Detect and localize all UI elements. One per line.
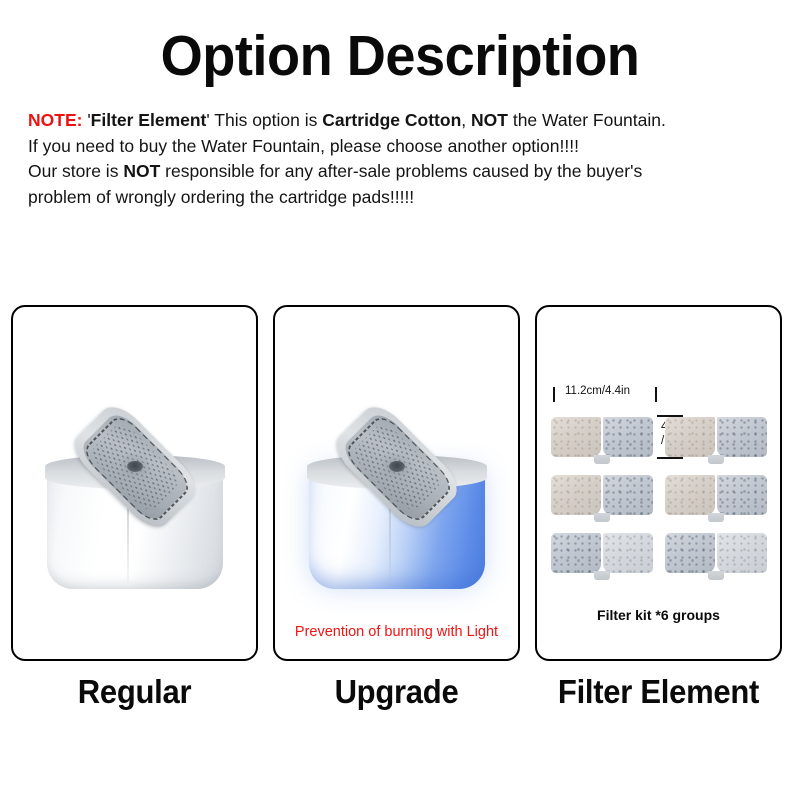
note-text-head-3: Our store is <box>28 161 123 181</box>
filter-kit-illustration: 11.2cm/4.4in 4.3 cm/1.7in <box>551 407 767 597</box>
filter-pad-right <box>717 417 767 457</box>
option-panel-filter-element[interactable]: 11.2cm/4.4in 4.3 cm/1.7in <box>535 305 782 661</box>
note-text-post-quote: ' This option is <box>206 110 322 130</box>
filter-pad-tab <box>708 455 724 464</box>
note-line-2: If you need to buy the Water Fountain, p… <box>28 134 780 160</box>
option-panel-regular[interactable] <box>11 305 258 661</box>
note-emphasis-not-1: NOT <box>471 110 508 130</box>
note-text-tail-1: the Water Fountain. <box>508 110 666 130</box>
filter-cartridge <box>551 475 653 515</box>
note-emphasis-not-2: NOT <box>123 161 160 181</box>
filter-pad-tab <box>708 513 724 522</box>
filter-pad-right <box>603 533 653 573</box>
option-label-upgrade: Upgrade <box>280 672 512 712</box>
filter-cartridge <box>665 533 767 573</box>
width-dimension-tick-left <box>553 387 555 402</box>
filter-row <box>551 417 767 457</box>
filter-pad-tab <box>594 455 610 464</box>
product-option-panels: Prevention of burning with Light 11.2cm/… <box>0 305 800 661</box>
filter-pad-tab <box>594 513 610 522</box>
water-fountain-illustration-upgrade <box>293 415 501 605</box>
option-labels: Regular Upgrade Filter Element <box>0 672 800 722</box>
filter-row <box>551 533 767 573</box>
fountain-spout-hole <box>127 461 143 472</box>
filter-pad-right <box>717 475 767 515</box>
note-label: NOTE: <box>28 110 82 130</box>
width-dimension-label: 11.2cm/4.4in <box>565 385 630 397</box>
filter-pad-right <box>717 533 767 573</box>
filter-pad-right <box>603 417 653 457</box>
option-label-filter-element: Filter Element <box>542 672 774 712</box>
note-block: NOTE: 'Filter Element' This option is Ca… <box>28 108 780 210</box>
option-panel-upgrade[interactable]: Prevention of burning with Light <box>273 305 520 661</box>
note-line-1: NOTE: 'Filter Element' This option is Ca… <box>28 108 780 134</box>
filter-pad-left <box>665 417 715 457</box>
filter-cartridge <box>665 475 767 515</box>
filter-pad-left <box>551 475 601 515</box>
note-text-pre-quote: ' <box>82 110 90 130</box>
water-fountain-illustration-regular <box>31 415 239 605</box>
note-line-4: problem of wrongly ordering the cartridg… <box>28 185 780 211</box>
fountain-lid <box>45 415 225 519</box>
note-line-3: Our store is NOT responsible for any aft… <box>28 159 780 185</box>
option-label-regular: Regular <box>18 672 250 712</box>
note-text-tail-3: responsible for any after-sale problems … <box>160 161 642 181</box>
filter-cartridge <box>551 417 653 457</box>
width-dimension-tick-right <box>655 387 657 402</box>
note-text-comma: , <box>461 110 471 130</box>
filter-pad-left <box>551 533 601 573</box>
filter-pad-tab <box>594 571 610 580</box>
fountain-spout-hole <box>389 461 405 472</box>
height-dimension-tick-bottom <box>657 457 683 459</box>
filter-pad-left <box>665 533 715 573</box>
page-title: Option Description <box>20 0 780 86</box>
filter-pad-right <box>603 475 653 515</box>
filter-pad-tab <box>708 571 724 580</box>
filter-pad-left <box>551 417 601 457</box>
filter-kit-caption: Filter kit *6 groups <box>537 607 780 623</box>
filter-row <box>551 475 767 515</box>
note-option-name: Filter Element <box>91 110 207 130</box>
filter-cartridge <box>551 533 653 573</box>
filter-cartridge <box>665 417 767 457</box>
fountain-lid <box>307 415 487 519</box>
upgrade-caption: Prevention of burning with Light <box>275 624 518 641</box>
filter-pad-left <box>665 475 715 515</box>
note-product-type: Cartridge Cotton <box>322 110 461 130</box>
